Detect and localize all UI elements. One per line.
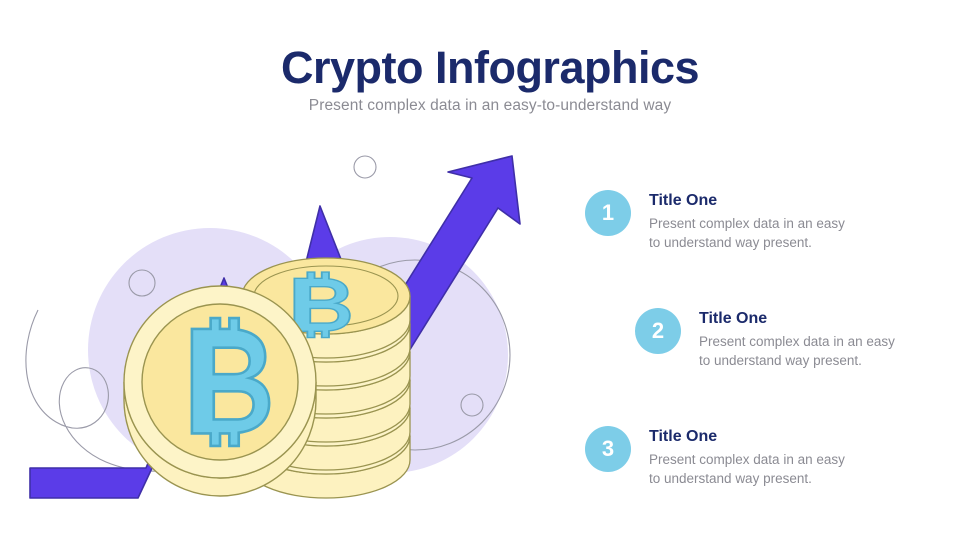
coin-stack-bitcoin-symbol <box>294 272 349 338</box>
item-text-block: Title One Present complex data in an eas… <box>649 190 845 252</box>
item-title: Title One <box>699 309 895 329</box>
list-item[interactable]: 2 Title One Present complex data in an e… <box>635 308 895 370</box>
list-item[interactable]: 3 Title One Present complex data in an e… <box>585 426 845 488</box>
item-text-block: Title One Present complex data in an eas… <box>649 426 845 488</box>
slide-canvas: Crypto Infographics Present complex data… <box>0 0 980 551</box>
page-subtitle: Present complex data in an easy-to-under… <box>0 97 980 115</box>
list-item[interactable]: 1 Title One Present complex data in an e… <box>585 190 845 252</box>
item-title: Title One <box>649 191 845 211</box>
item-description: Present complex data in an easy to under… <box>649 214 845 252</box>
item-title: Title One <box>649 427 845 447</box>
item-text-block: Title One Present complex data in an eas… <box>699 308 895 370</box>
item-number-badge: 1 <box>585 190 631 236</box>
item-number-badge: 2 <box>635 308 681 354</box>
bitcoin-growth-arrow-illustration <box>20 150 580 530</box>
item-number-badge: 3 <box>585 426 631 472</box>
slide-header: Crypto Infographics Present complex data… <box>0 44 980 115</box>
info-items-list: 1 Title One Present complex data in an e… <box>575 168 970 508</box>
page-title: Crypto Infographics <box>0 44 980 91</box>
front-coin-bitcoin-symbol <box>192 318 269 446</box>
item-description: Present complex data in an easy to under… <box>649 450 845 488</box>
item-description: Present complex data in an easy to under… <box>699 332 895 370</box>
